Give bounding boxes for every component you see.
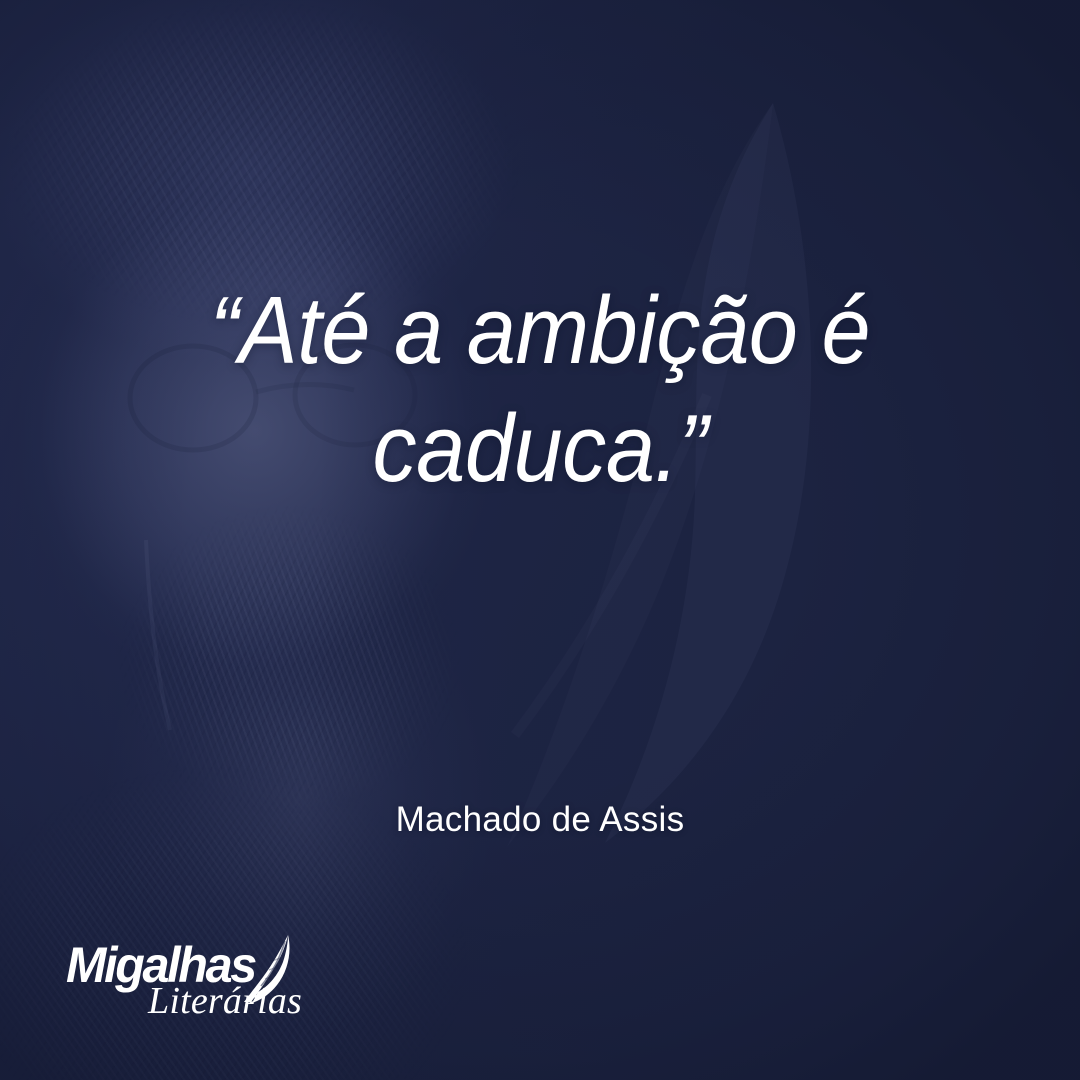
background-right-fade xyxy=(0,0,1080,1080)
portrait-glasses xyxy=(0,0,1080,1080)
background-base xyxy=(0,0,1080,1080)
portrait-head-shading xyxy=(0,0,1080,1080)
quote-card: “Até a ambição é caduca.” Machado de Ass… xyxy=(0,0,1080,1080)
quote-text: “Até a ambição é caduca.” xyxy=(89,272,991,508)
background-vignette xyxy=(0,0,1080,1080)
migalhas-literarias-logo[interactable]: Migalhas Literárias xyxy=(66,934,316,1024)
quote-author: Machado de Assis xyxy=(50,800,1030,840)
portrait-hair-texture xyxy=(0,0,1080,1080)
portrait-beard-texture xyxy=(0,0,1080,1080)
logo-subtitle: Literárias xyxy=(148,982,302,1020)
portrait-suit-texture xyxy=(0,0,1080,1080)
